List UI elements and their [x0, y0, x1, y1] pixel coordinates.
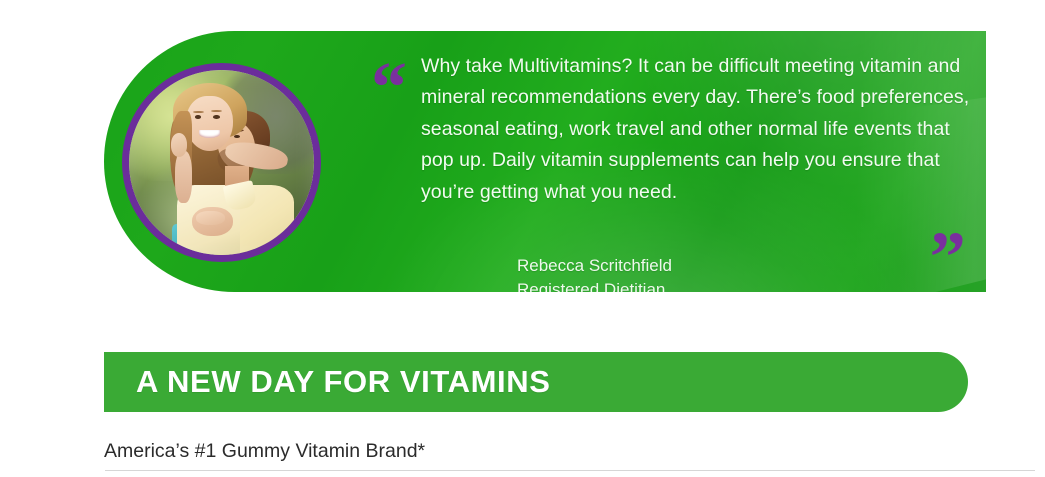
quote-text: Why take Multivitamins? It can be diffic…	[371, 51, 971, 208]
avatar-photo	[129, 70, 314, 255]
quote-block: “ Why take Multivitamins? It can be diff…	[371, 51, 971, 208]
author-title: Registered Dietitian	[517, 278, 672, 292]
quote-open-icon: “	[371, 51, 404, 123]
horizontal-divider	[105, 470, 1035, 471]
quote-attribution: Rebecca Scritchfield Registered Dietitia…	[517, 254, 672, 292]
photo-soft-focus-overlay	[129, 70, 314, 255]
testimonial-card: “ Why take Multivitamins? It can be diff…	[104, 31, 986, 292]
page-subheading: America’s #1 Gummy Vitamin Brand*	[104, 440, 425, 463]
avatar	[122, 63, 321, 262]
section-banner-title: A NEW DAY FOR VITAMINS	[136, 364, 551, 400]
section-banner: A NEW DAY FOR VITAMINS	[104, 352, 968, 412]
quote-close-icon: “	[933, 195, 966, 267]
author-name: Rebecca Scritchfield	[517, 254, 672, 278]
